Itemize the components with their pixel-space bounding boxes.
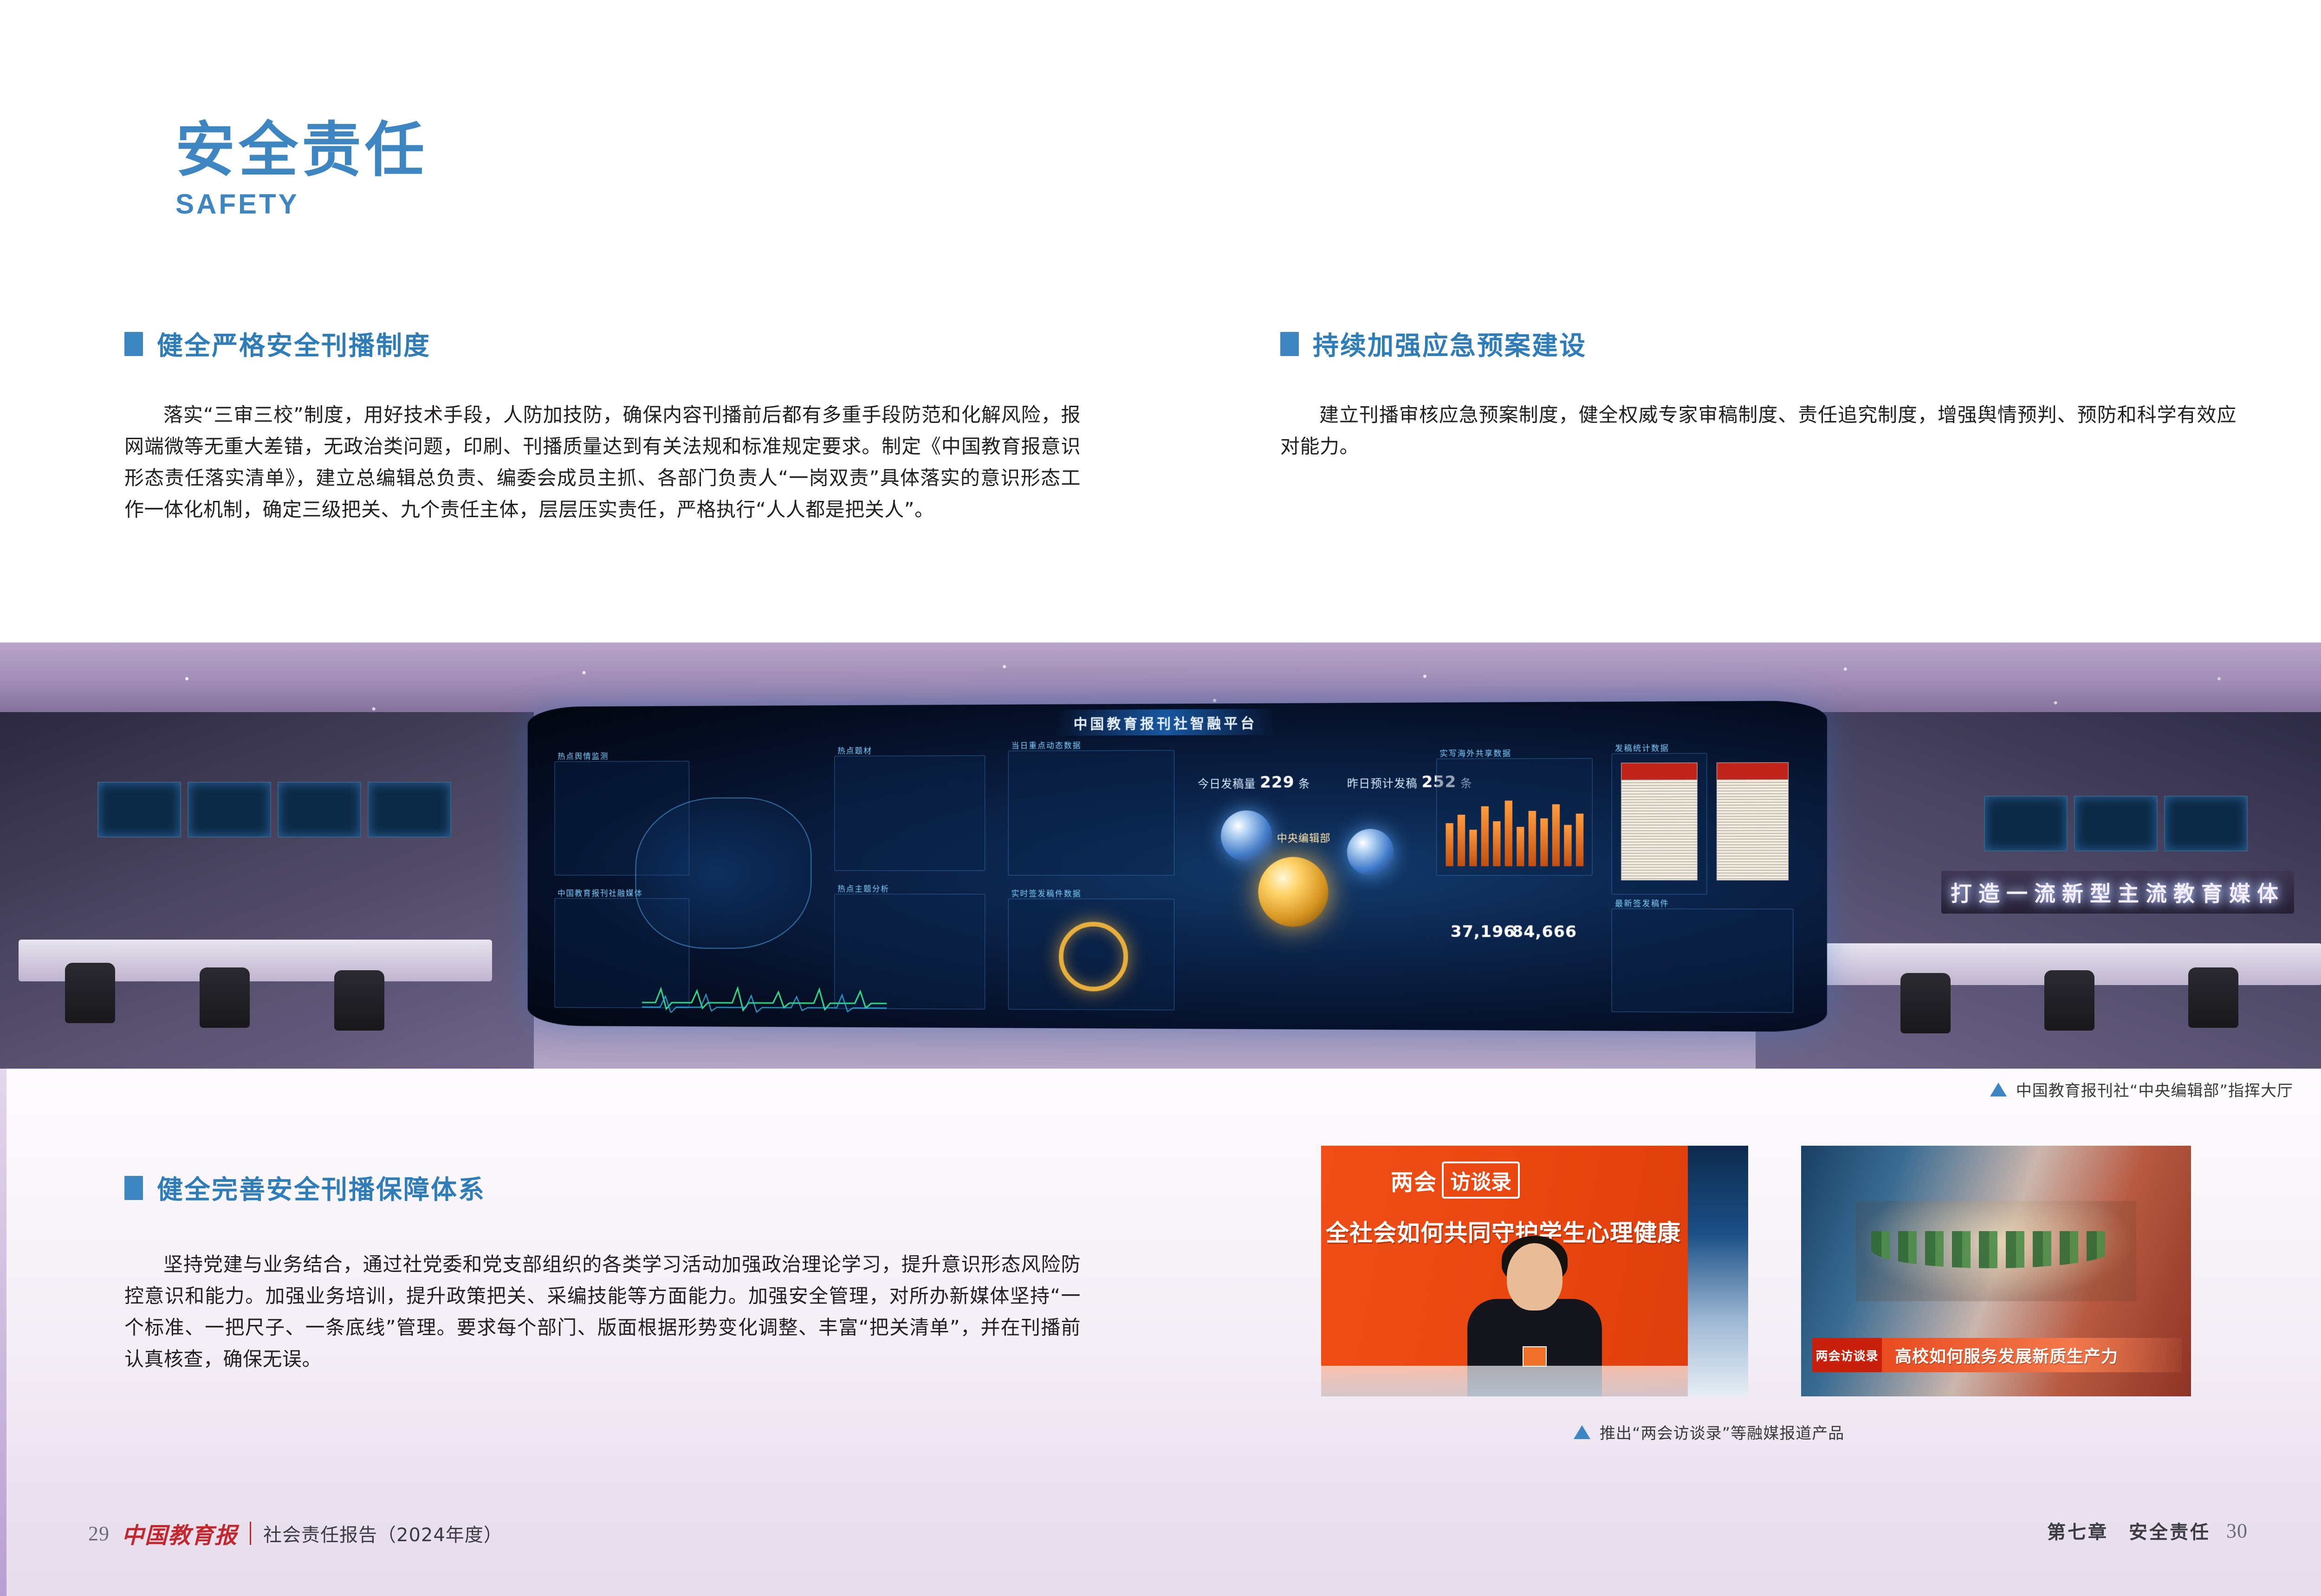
chair: [200, 967, 250, 1028]
videowall-panel: 当日重点动态数据: [1008, 750, 1174, 876]
newspaper-thumb: [1717, 762, 1789, 881]
panel-label: 热点舆情监测: [558, 750, 609, 761]
stat-label: 昨日预计发稿: [1347, 777, 1418, 791]
photos-caption: 推出“两会访谈录”等融媒报道产品: [1574, 1421, 1844, 1443]
chair: [65, 963, 115, 1023]
page-root: 安全责任 SAFETY 健全严格安全刊播制度 落实“三审三校”制度，用好技术手段…: [0, 0, 2321, 1596]
section-title-2: 持续加强应急预案建设: [1313, 325, 1587, 363]
panel-label: 当日重点动态数据: [1011, 739, 1082, 751]
sphere-graphic: [1221, 811, 1272, 862]
left-monitor-bank: [97, 782, 451, 837]
footer-left: 29 中国教育报 社会责任报告（2024年度）: [88, 1517, 503, 1550]
chapter-label: 第七章 安全责任: [2047, 1517, 2211, 1544]
videowall-panel: 最新签发稿件: [1612, 908, 1794, 1012]
wall-led-sign: 打造一流新型主流教育媒体: [1941, 871, 2294, 914]
stat-value: 84,666: [1512, 922, 1577, 941]
gauge-ring-graphic: [1059, 922, 1128, 992]
section-body-3: 坚持党建与业务结合，通过社党委和党支部组织的各类学习活动加强政治理论学习，提升意…: [124, 1249, 1081, 1375]
chair: [2188, 967, 2238, 1028]
monitor: [1984, 796, 2068, 851]
section-body-2: 建立刊播审核应急预案制度，健全权威专家审稿制度、责任追究制度，增强舆情预判、预防…: [1280, 399, 2237, 462]
monitor: [278, 782, 361, 837]
photo-side-panel: [1688, 1146, 1748, 1396]
square-marker-icon: [124, 1176, 143, 1200]
panel-label: 热点题材: [837, 744, 872, 756]
page-title-en: SAFETY: [175, 188, 428, 220]
monitor: [188, 782, 271, 837]
china-map-graphic: [635, 798, 811, 949]
stat-value: 229: [1260, 773, 1294, 792]
sphere-graphic: [1347, 829, 1394, 876]
photos-caption-text: 推出“两会访谈录”等融媒报道产品: [1600, 1421, 1844, 1443]
stat-label: 今日发稿量: [1198, 777, 1256, 790]
lianghui-logo: 两会 访谈录: [1391, 1161, 1520, 1199]
report-title: 社会责任报告（2024年度）: [263, 1520, 503, 1547]
section-heading-1: 健全严格安全刊播制度: [124, 325, 431, 363]
panel-label: 热点主题分析: [837, 882, 889, 894]
lianghui-logo-small: 两会访谈录: [1812, 1338, 1882, 1372]
photo-interview-studio: 两会 访谈录 全社会如何共同守护学生心理健康: [1321, 1146, 1748, 1396]
section-body-1: 落实“三审三校”制度，用好技术手段，人防加技防，确保内容刊播前后都有多重手段防范…: [124, 399, 1081, 526]
videowall-title: 中国教育报刊社智融平台: [1055, 709, 1276, 736]
triangle-marker-icon: [1574, 1425, 1590, 1439]
logo-text-a: 两会: [1391, 1164, 1437, 1196]
wall-sign-text: 打造一流新型主流教育媒体: [1951, 877, 2285, 908]
triangle-marker-icon: [1990, 1083, 2007, 1096]
page-number-right: 30: [2226, 1519, 2248, 1543]
square-marker-icon: [124, 332, 143, 356]
bar-chart-graphic: [1446, 796, 1584, 866]
stat-unit: 条: [1298, 777, 1310, 790]
panel-label: 最新签发稿件: [1615, 897, 1669, 908]
section-heading-3: 健全完善安全刊播保障体系: [124, 1169, 486, 1207]
square-marker-icon: [1280, 332, 1299, 356]
center-label: 中央编辑部: [1277, 830, 1331, 845]
divider: [250, 1522, 251, 1545]
monitor: [2074, 796, 2158, 851]
logo-text-b: 访谈录: [1442, 1161, 1520, 1199]
hero-photo-newsroom: 打造一流新型主流教育媒体 中国教育报刊社智融平台 热点舆情监测 中国教育报刊社融…: [0, 642, 2321, 1069]
panel-label: 发稿统计数据: [1615, 741, 1669, 753]
newspaper-thumb: [1621, 763, 1698, 881]
footer-right: 第七章 安全责任 30: [2047, 1517, 2248, 1544]
chair: [1900, 973, 1951, 1033]
stat-today: 今日发稿量 229 条: [1198, 773, 1310, 792]
monitor: [97, 782, 181, 837]
stat-total: 84,666: [1512, 922, 1577, 941]
section-title-1: 健全严格安全刊播制度: [157, 325, 431, 363]
stat-accumulated: 37,196: [1451, 922, 1516, 941]
main-video-wall: 中国教育报刊社智融平台 热点舆情监测 中国教育报刊社融媒体 热点题材 热点主题分…: [528, 701, 1827, 1032]
page-title-cn: 安全责任: [175, 115, 428, 185]
videowall-panel: 热点题材: [834, 755, 985, 871]
plant-decor: [1871, 1231, 2113, 1268]
lower-third-banner: 两会访谈录 高校如何服务发展新质生产力: [1812, 1338, 2182, 1372]
photo-broadcast-set: 两会访谈录 高校如何服务发展新质生产力: [1801, 1146, 2191, 1396]
hero-caption-text: 中国教育报刊社“中央编辑部”指挥大厅: [2016, 1078, 2293, 1101]
studio-desk: [1321, 1366, 1688, 1396]
photo-headline: 高校如何服务发展新质生产力: [1882, 1343, 2118, 1367]
panel-label: 实写海外共享数据: [1439, 746, 1511, 759]
panel-label: 实时签发稿件数据: [1011, 887, 1082, 899]
monitor: [2164, 796, 2248, 851]
chair: [2044, 970, 2094, 1031]
chair: [334, 970, 384, 1031]
panel-label: 中国教育报刊社融媒体: [558, 887, 643, 898]
stat-value: 37,196: [1451, 922, 1516, 941]
right-monitor-bank: [1984, 796, 2248, 851]
monitor: [368, 782, 451, 837]
page-title: 安全责任 SAFETY: [175, 115, 428, 220]
ecg-waveform-graphic: [642, 980, 887, 1013]
section-heading-2: 持续加强应急预案建设: [1280, 325, 1587, 363]
hero-caption: 中国教育报刊社“中央编辑部”指挥大厅: [1990, 1078, 2293, 1101]
page-number-left: 29: [88, 1522, 110, 1545]
sphere-graphic-gold: [1258, 857, 1328, 927]
section-title-3: 健全完善安全刊播保障体系: [157, 1169, 486, 1207]
masthead-logo: 中国教育报: [122, 1517, 238, 1550]
